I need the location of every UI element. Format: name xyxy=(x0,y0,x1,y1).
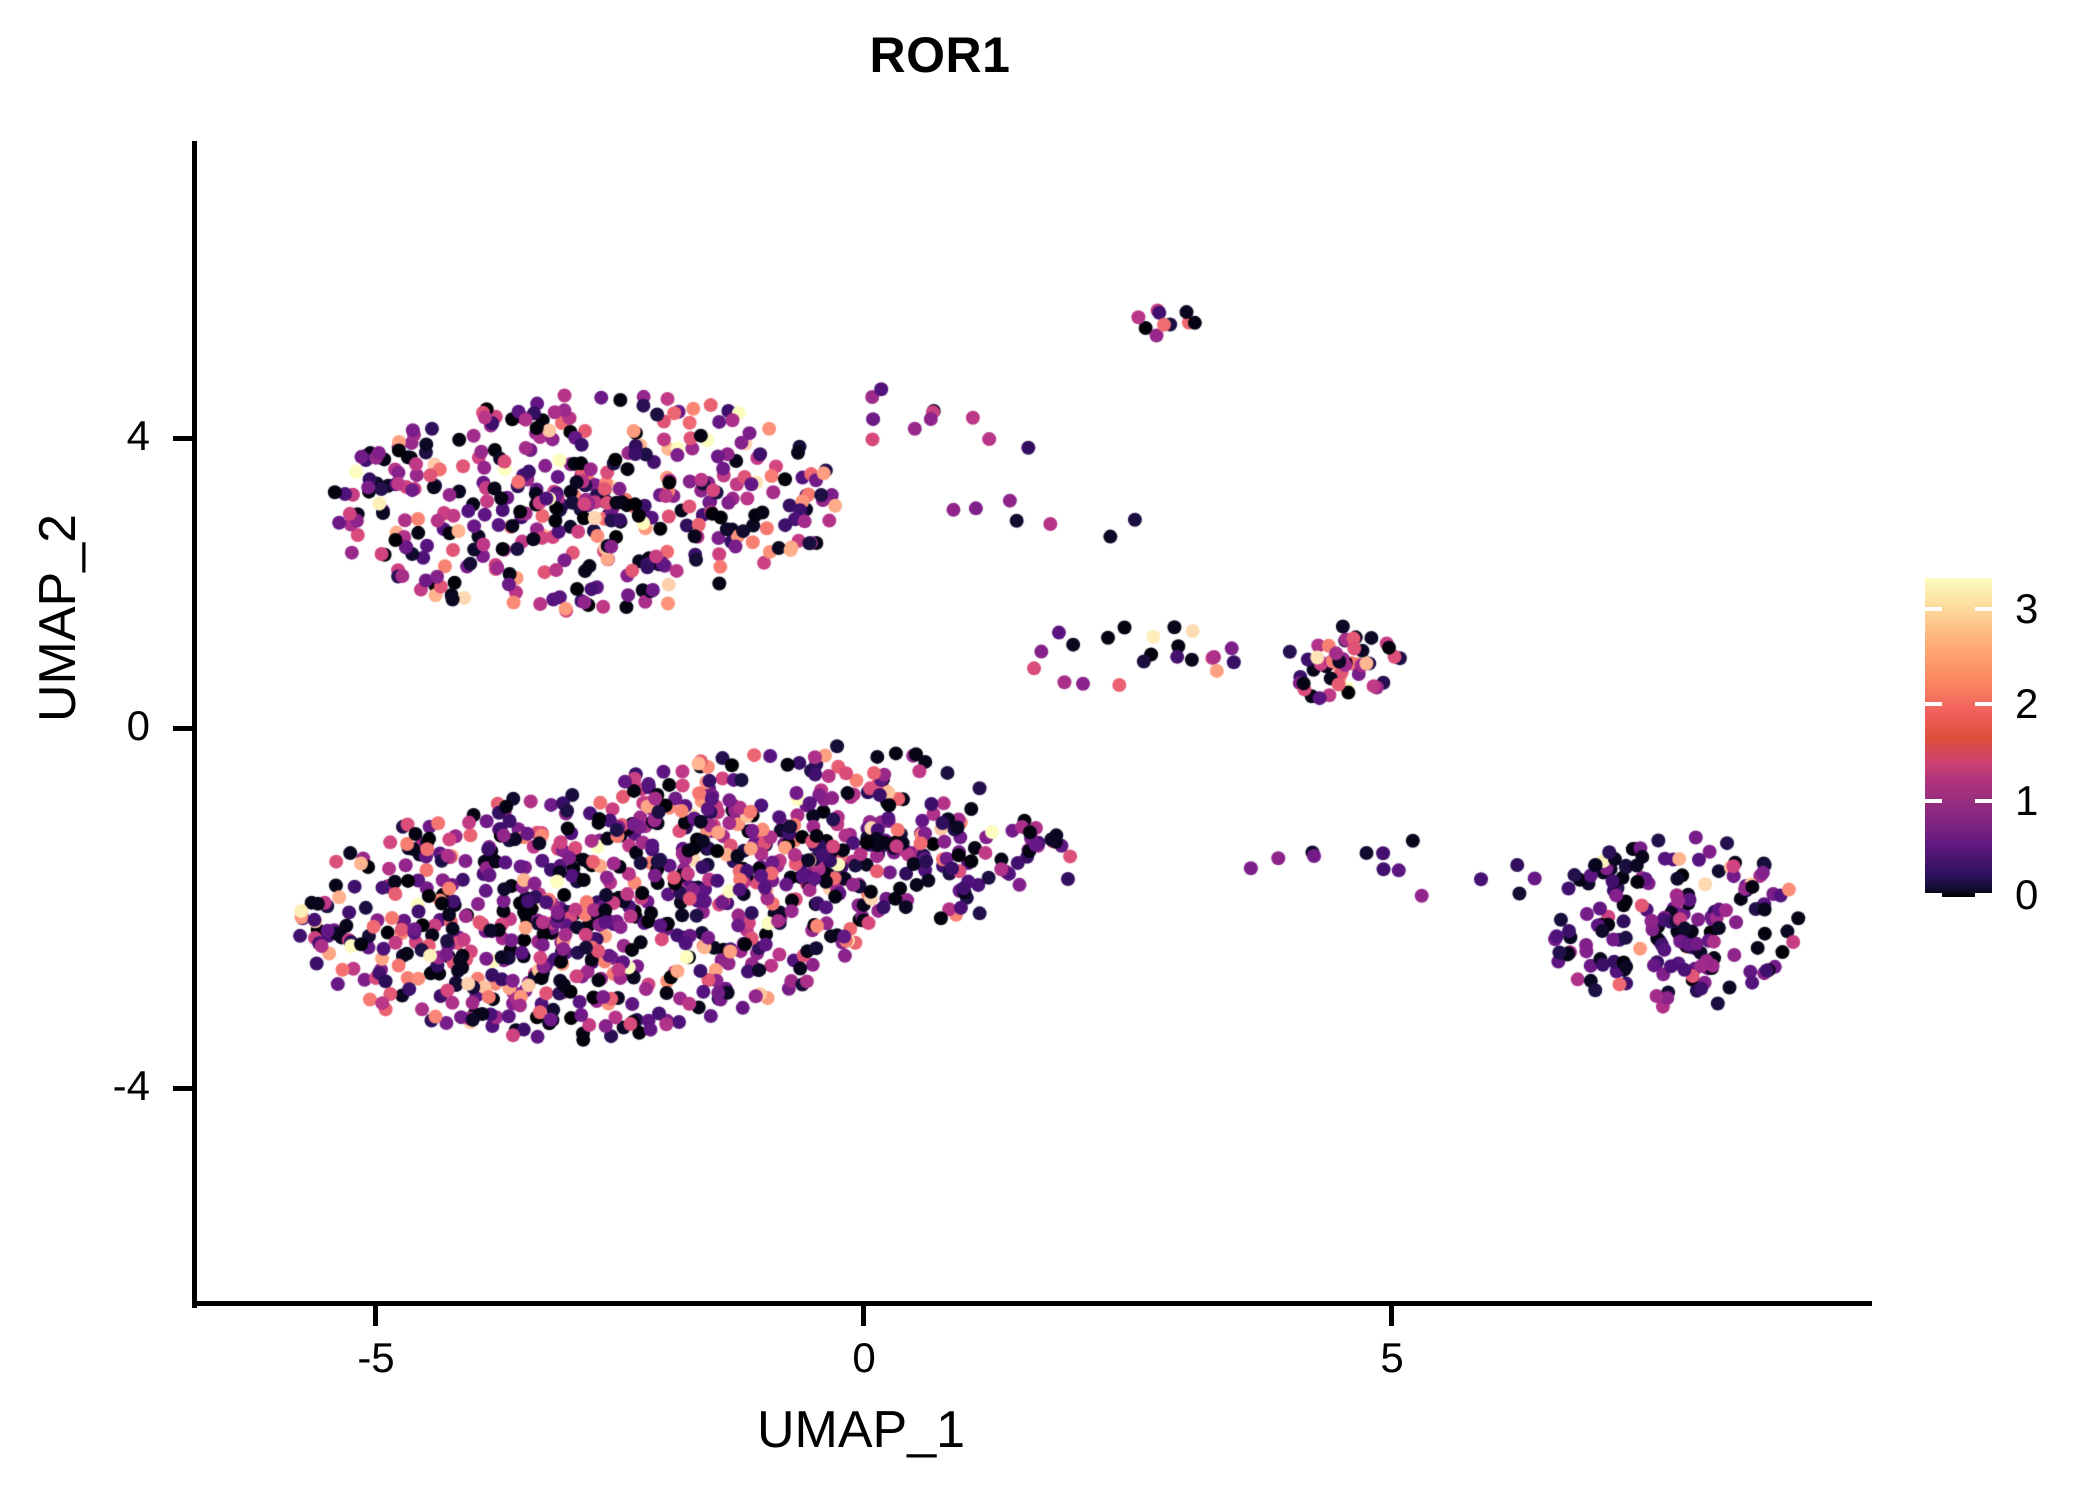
y-tick-mark-4 xyxy=(173,436,193,441)
x-tick-label-5: 5 xyxy=(1322,1334,1462,1382)
legend-tick-2-right xyxy=(1975,702,1992,706)
x-tick-label-minus5: -5 xyxy=(306,1334,446,1382)
umap-feature-plot: ROR1 4 0 -4 -5 0 5 UMAP_2 UMAP_1 3 2 1 0 xyxy=(0,0,2100,1500)
y-tick-label-minus4: -4 xyxy=(30,1062,150,1110)
y-tick-mark-minus4 xyxy=(173,1086,193,1091)
legend-tick-2-left xyxy=(1925,702,1942,706)
legend-label-3: 3 xyxy=(2015,585,2038,633)
x-tick-label-0: 0 xyxy=(794,1334,934,1382)
scatter-points-layer xyxy=(196,141,1872,1304)
plot-panel xyxy=(196,141,1872,1304)
y-axis-line xyxy=(192,141,197,1308)
x-tick-mark-minus5 xyxy=(373,1306,378,1326)
x-tick-mark-5 xyxy=(1389,1306,1394,1326)
legend-tick-1-left xyxy=(1925,799,1942,803)
legend-label-0: 0 xyxy=(2015,871,2038,919)
legend-tick-3-left xyxy=(1925,607,1942,611)
x-axis-line xyxy=(192,1301,1872,1306)
x-tick-mark-0 xyxy=(861,1306,866,1326)
y-axis-title: UMAP_2 xyxy=(28,338,88,898)
legend-label-1: 1 xyxy=(2015,777,2038,825)
page-title: ROR1 xyxy=(0,26,1880,84)
legend-label-2: 2 xyxy=(2015,680,2038,728)
legend-tick-1-right xyxy=(1975,799,1992,803)
x-axis-title: UMAP_1 xyxy=(561,1400,1161,1460)
colorbar-gradient xyxy=(1925,578,1992,897)
legend-tick-0-right xyxy=(1975,893,1992,897)
y-tick-mark-0 xyxy=(173,726,193,731)
legend-tick-0-left xyxy=(1925,893,1942,897)
legend-tick-3-right xyxy=(1975,607,1992,611)
